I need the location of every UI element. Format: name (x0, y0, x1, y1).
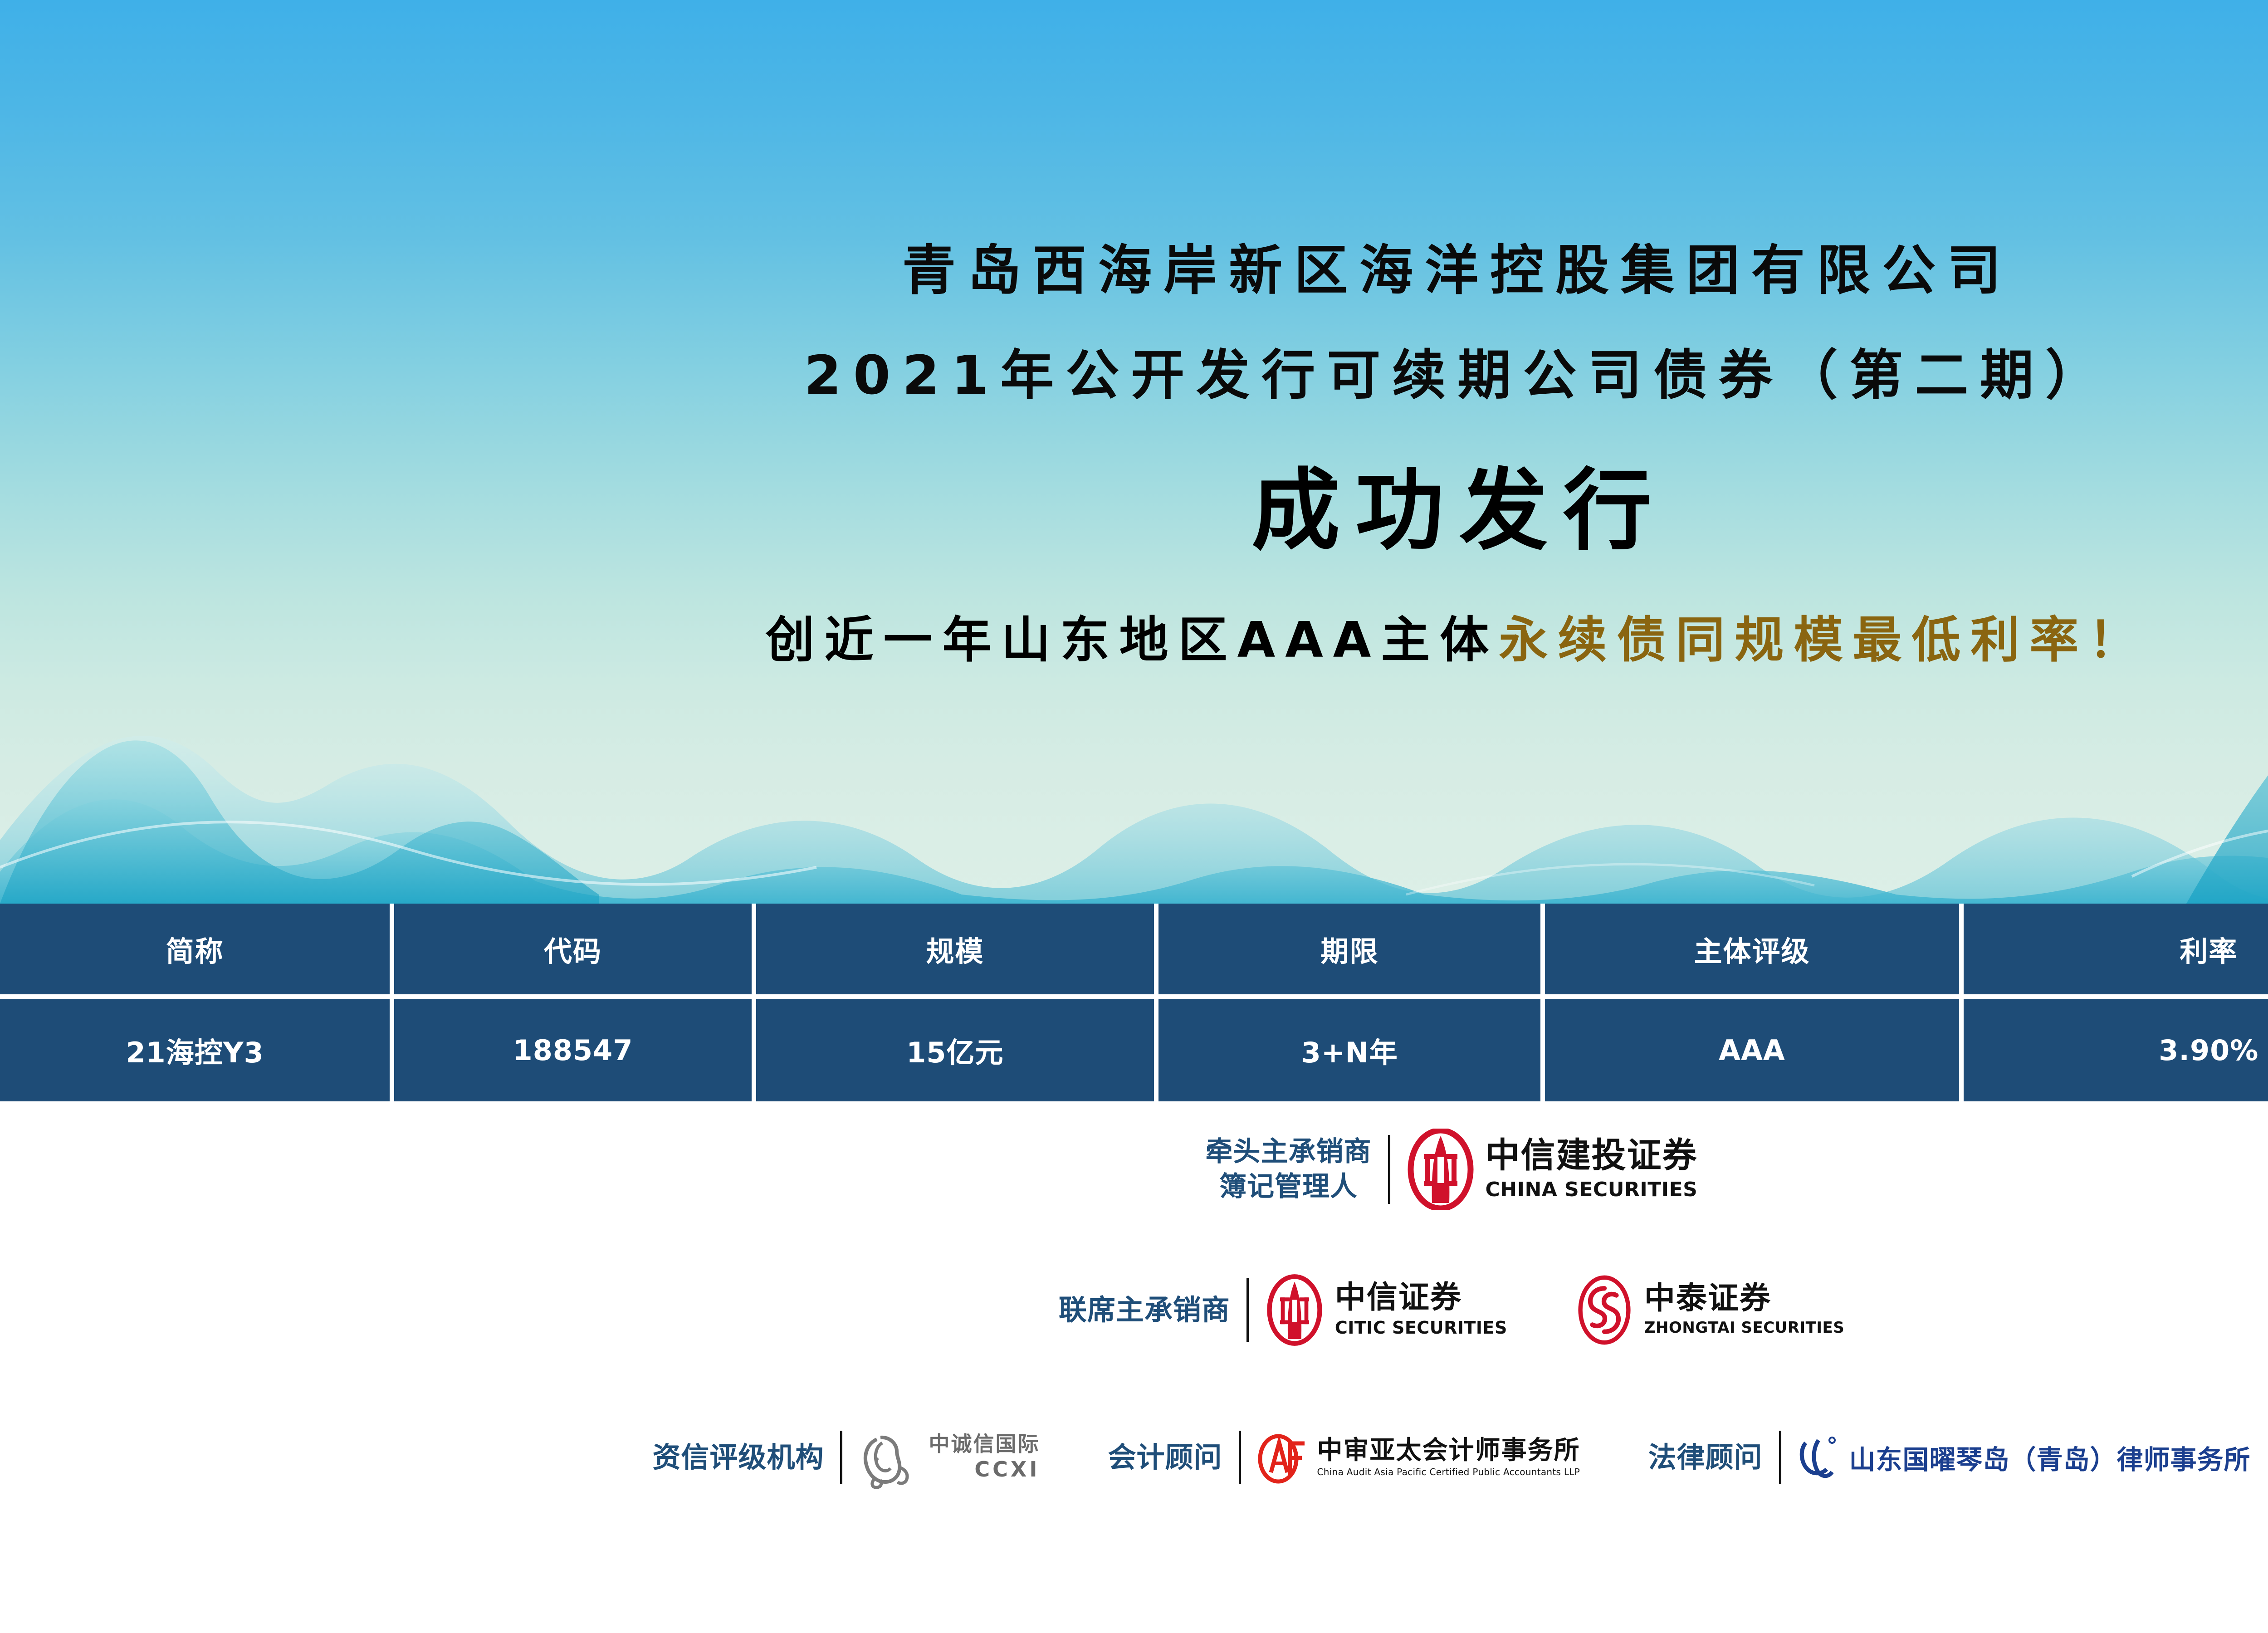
china-audit-name-en: China Audit Asia Pacific Certified Publi… (1317, 1467, 1580, 1477)
lead-underwriter-label-line2: 簿记管理人 (1206, 1169, 1372, 1204)
zhongtai-logo: 中泰证券 ZHONGTAI SECURITIES (1575, 1274, 1844, 1346)
divider (840, 1431, 842, 1484)
ccxi-name-cn: 中诚信国际 (929, 1433, 1040, 1454)
th-issuer-rating: 主体评级 (1545, 904, 1959, 994)
partners-section: 牵头主承销商 簿记管理人 中信建投证券 CHINA SECURITIES (0, 1101, 2268, 1633)
ccxi-logo: 中诚信国际 CCXI (859, 1426, 1040, 1489)
citic-securities-logo: 中信建投证券 CHINA SECURITIES (1407, 1129, 1698, 1210)
th-coupon: 利率 (1964, 904, 2268, 994)
th-tenor: 期限 (1158, 904, 1540, 994)
th-size: 规模 (756, 904, 1154, 994)
divider (1779, 1431, 1781, 1484)
zhongtai-name-cn: 中泰证券 (1644, 1283, 1771, 1314)
advisors-row: 资信评级机构 中诚信国际 CCXI 会计顾问 (0, 1383, 2268, 1532)
divider (1388, 1135, 1390, 1204)
bond-summary-table: 简称 代码 规模 期限 主体评级 利率 认购倍数 21海控Y3 188547 1… (0, 904, 2268, 1101)
citic-securities-name-en: CHINA SECURITIES (1486, 1178, 1698, 1201)
td-issuer-rating: AAA (1545, 999, 1959, 1101)
lead-underwriter-label-line1: 牵头主承销商 (1206, 1134, 1372, 1169)
td-size: 15亿元 (756, 999, 1154, 1101)
joint-underwriters-row: 联席主承销商 中信证券 CITIC SECURITIES (0, 1237, 2268, 1383)
td-tenor: 3+N年 (1158, 999, 1540, 1101)
china-audit-logo: 中审亚太会计师事务所 China Audit Asia Pacific Cert… (1257, 1431, 1580, 1484)
headline: 成功发行 (1236, 439, 1667, 567)
th-abbreviation: 简称 (0, 904, 390, 994)
citic-name-cn: 中信证券 (1335, 1282, 1462, 1313)
subtitle-black: 创近一年山东地区AAA主体 (766, 612, 1499, 669)
legal-advisor-label: 法律顾问 (1648, 1439, 1763, 1475)
subtitle-gold: 永续债同规模最低利率！ (1499, 612, 2147, 669)
th-code: 代码 (394, 904, 752, 994)
citic-name-en: CITIC SECURITIES (1335, 1318, 1507, 1338)
table-header-row: 简称 代码 规模 期限 主体评级 利率 认购倍数 (0, 904, 2268, 994)
td-code: 188547 (394, 999, 752, 1101)
china-audit-name-cn: 中审亚太会计师事务所 (1317, 1437, 1580, 1463)
law-firm-icon (1798, 1433, 1838, 1482)
lead-underwriter-row: 牵头主承销商 簿记管理人 中信建投证券 CHINA SECURITIES (0, 1101, 2268, 1237)
law-firm-name-cn: 山东国曜琴岛（青岛）律师事务所 (1849, 1438, 2251, 1477)
citic-logo: 中信证券 CITIC SECURITIES (1265, 1274, 1507, 1346)
td-abbreviation: 21海控Y3 (0, 999, 390, 1101)
hero-banner: 海控集团 OCEAN HOLDINGS GROUP 青岛西海岸新区海洋控股集团有… (0, 0, 2268, 904)
issuer-name: 青岛西海岸新区海洋控股集团有限公司 (890, 227, 2013, 304)
citic-seal-icon (1265, 1274, 1324, 1346)
lead-underwriter-label: 牵头主承销商 簿记管理人 (1206, 1134, 1372, 1204)
af-oval-icon (1257, 1431, 1306, 1484)
citic-securities-name-cn: 中信建投证券 (1486, 1138, 1698, 1173)
divider (1239, 1431, 1241, 1484)
td-coupon: 3.90% (1964, 999, 2268, 1101)
divider (1246, 1278, 1249, 1342)
zhongtai-name-en: ZHONGTAI SECURITIES (1644, 1319, 1844, 1337)
subtitle: 创近一年山东地区AAA主体永续债同规模最低利率！ (756, 601, 2148, 671)
table-row: 21海控Y3 188547 15亿元 3+N年 AAA 3.90% 2.22倍 (0, 999, 2268, 1101)
joint-underwriter-label: 联席主承销商 (1059, 1292, 1230, 1328)
ccxi-name-en: CCXI (974, 1457, 1040, 1481)
ccxi-elephant-icon (859, 1426, 918, 1489)
rating-agency-label: 资信评级机构 (652, 1439, 824, 1475)
accounting-advisor-label: 会计顾问 (1108, 1439, 1222, 1475)
citic-securities-seal-icon (1407, 1129, 1475, 1210)
law-firm-logo: 山东国曜琴岛（青岛）律师事务所 (1798, 1433, 2251, 1482)
zhongtai-seal-icon (1575, 1274, 1633, 1346)
bond-description: 2021年公开发行可续期公司债券（第二期） (792, 332, 2111, 409)
